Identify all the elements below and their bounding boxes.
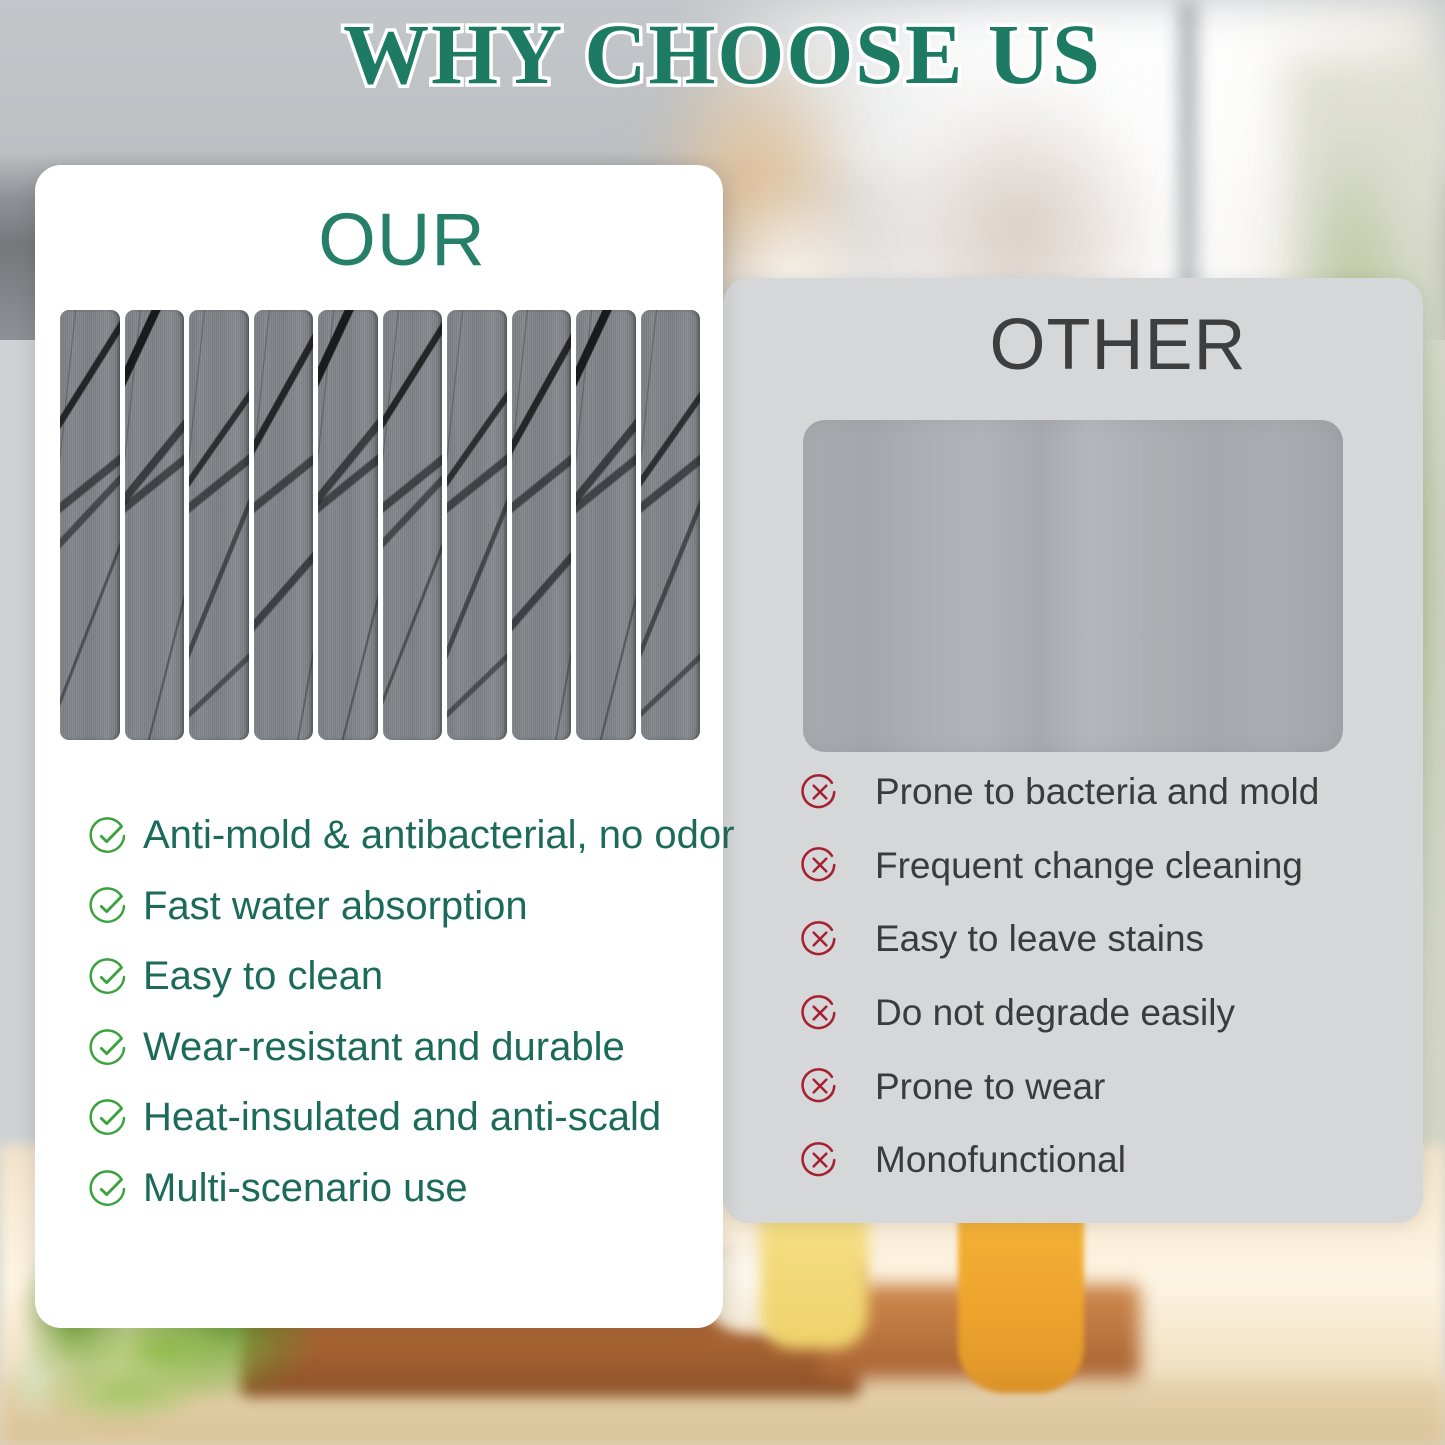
list-item: Heat-insulated and anti-scald bbox=[89, 1095, 709, 1141]
list-item: Monofunctional bbox=[801, 1138, 1401, 1182]
our-card: OUR Anti-mold & antibacterial, no odor F… bbox=[35, 165, 723, 1328]
other-panel: OTHER Prone to bacteria and mold Frequen… bbox=[723, 278, 1423, 1223]
list-item: Frequent change cleaning bbox=[801, 844, 1401, 888]
list-item-label: Easy to leave stains bbox=[875, 917, 1204, 961]
our-heading: OUR bbox=[35, 197, 723, 282]
product-slat bbox=[512, 310, 572, 740]
list-item: Prone to bacteria and mold bbox=[801, 770, 1401, 814]
list-item: Wear-resistant and durable bbox=[89, 1025, 709, 1071]
list-item-label: Monofunctional bbox=[875, 1138, 1126, 1182]
list-item: Prone to wear bbox=[801, 1065, 1401, 1109]
list-item-label: Wear-resistant and durable bbox=[143, 1025, 625, 1071]
other-drawback-list: Prone to bacteria and mold Frequent chan… bbox=[801, 770, 1401, 1212]
list-item-label: Prone to wear bbox=[875, 1065, 1105, 1109]
list-item: Do not degrade easily bbox=[801, 991, 1401, 1035]
product-slat bbox=[318, 310, 378, 740]
product-slat bbox=[641, 310, 701, 740]
other-heading: OTHER bbox=[723, 304, 1423, 386]
product-slat bbox=[125, 310, 185, 740]
circle-cross-icon bbox=[801, 846, 839, 884]
list-item-label: Frequent change cleaning bbox=[875, 844, 1303, 888]
circle-check-icon bbox=[89, 1028, 129, 1068]
circle-check-icon bbox=[89, 886, 129, 926]
list-item: Multi-scenario use bbox=[89, 1166, 709, 1212]
list-item-label: Heat-insulated and anti-scald bbox=[143, 1095, 661, 1141]
list-item-label: Easy to clean bbox=[143, 954, 383, 1000]
circle-cross-icon bbox=[801, 1067, 839, 1105]
circle-cross-icon bbox=[801, 1141, 839, 1179]
list-item: Easy to clean bbox=[89, 954, 709, 1000]
our-feature-list: Anti-mold & antibacterial, no odor Fast … bbox=[89, 813, 709, 1237]
list-item-label: Anti-mold & antibacterial, no odor bbox=[143, 813, 734, 859]
product-slat bbox=[254, 310, 314, 740]
list-item-label: Do not degrade easily bbox=[875, 991, 1235, 1035]
list-item-label: Multi-scenario use bbox=[143, 1166, 468, 1212]
circle-cross-icon bbox=[801, 994, 839, 1032]
circle-cross-icon bbox=[801, 920, 839, 958]
circle-cross-icon bbox=[801, 773, 839, 811]
circle-check-icon bbox=[89, 1098, 129, 1138]
product-slat bbox=[447, 310, 507, 740]
product-slat bbox=[383, 310, 443, 740]
product-slat bbox=[576, 310, 636, 740]
list-item: Anti-mold & antibacterial, no odor bbox=[89, 813, 709, 859]
circle-check-icon bbox=[89, 816, 129, 856]
other-product-image bbox=[803, 420, 1343, 752]
list-item-label: Prone to bacteria and mold bbox=[875, 770, 1319, 814]
page-title: WHY CHOOSE US bbox=[0, 8, 1445, 101]
product-slat bbox=[189, 310, 249, 740]
list-item: Easy to leave stains bbox=[801, 917, 1401, 961]
our-product-image bbox=[60, 310, 700, 740]
circle-check-icon bbox=[89, 1169, 129, 1209]
product-slat bbox=[60, 310, 120, 740]
list-item-label: Fast water absorption bbox=[143, 884, 528, 930]
list-item: Fast water absorption bbox=[89, 884, 709, 930]
circle-check-icon bbox=[89, 957, 129, 997]
